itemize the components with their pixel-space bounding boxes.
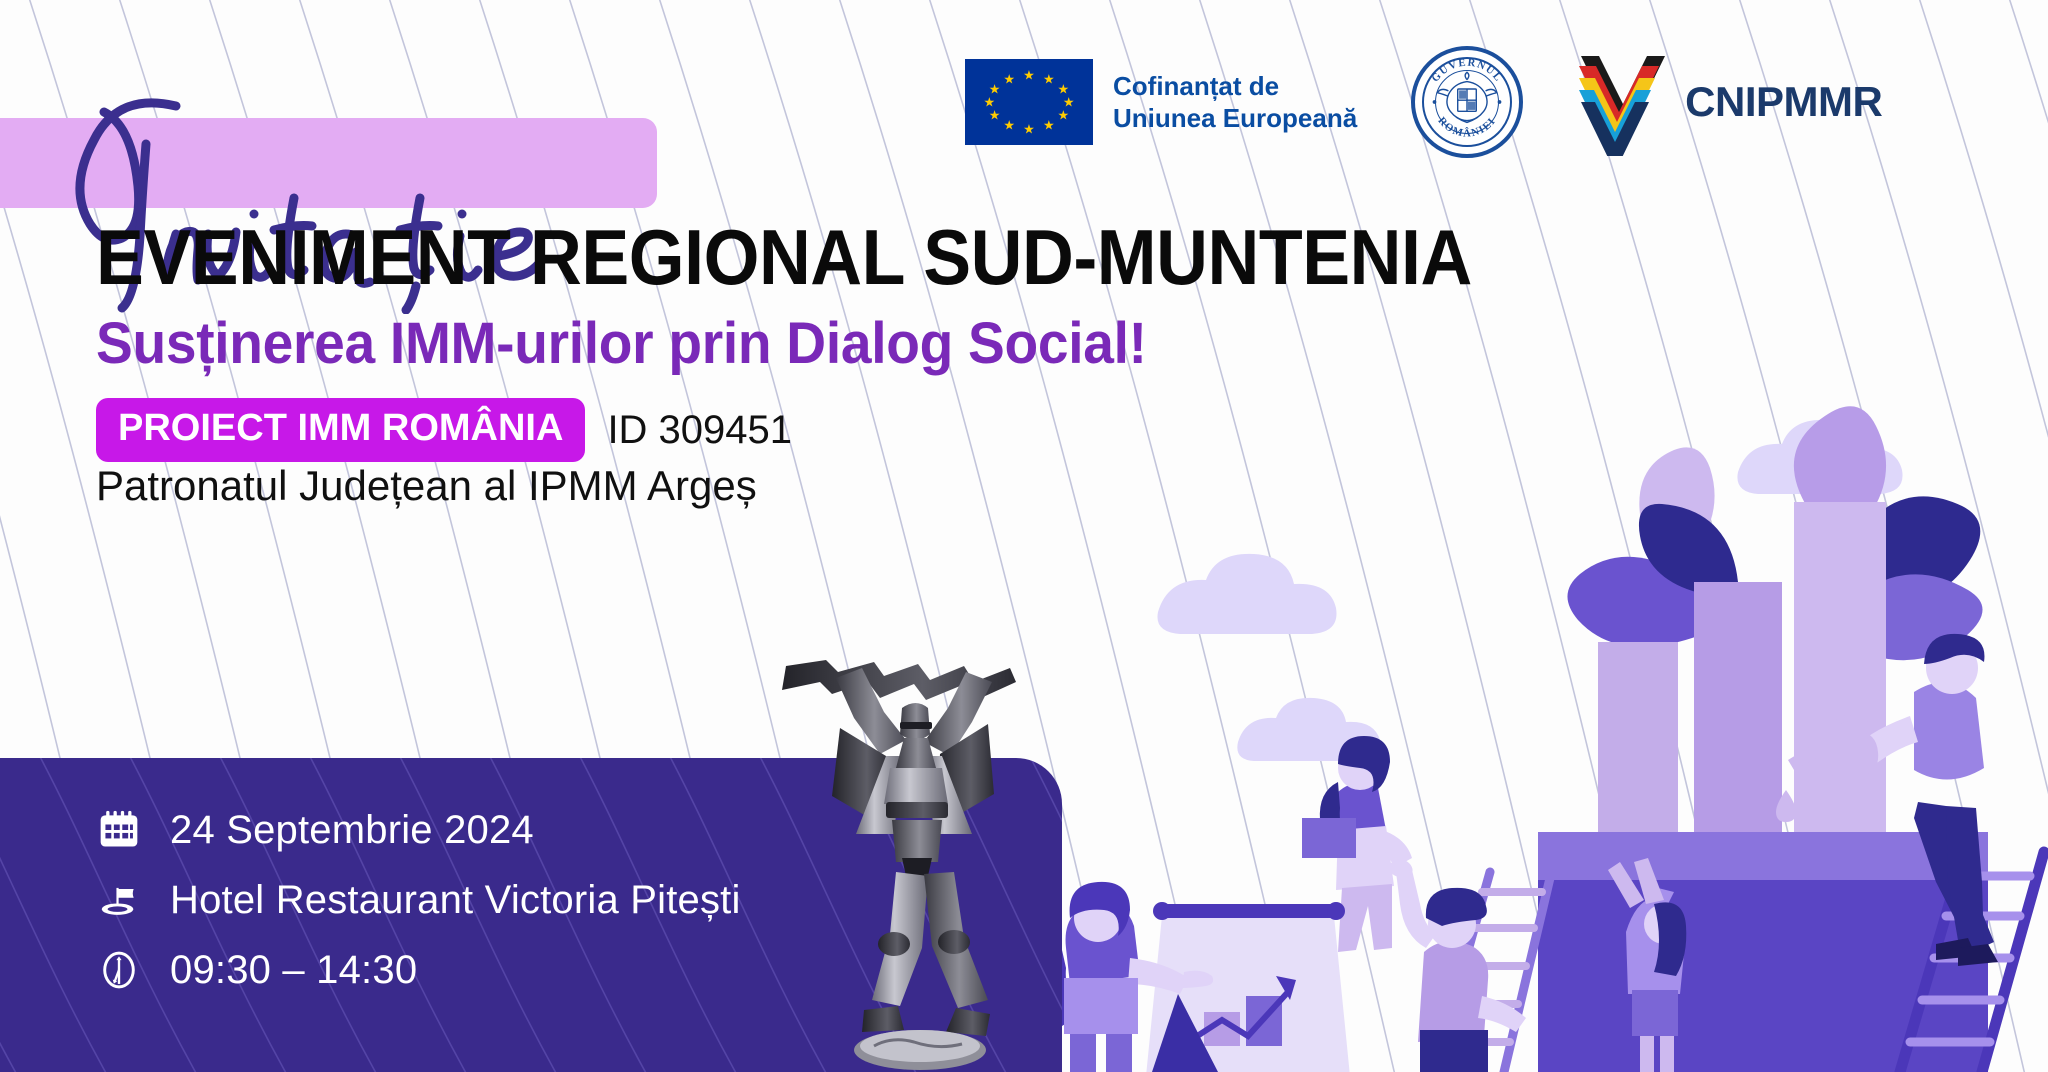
eu-logo-line2: Uniunea Europeană [1113, 102, 1357, 135]
government-of-romania-seal: GUVERNUL ROMÂNIEI [1411, 46, 1523, 158]
logo-row: ★★★★★★★★★★★★ Cofinanțat de Uniunea Europ… [965, 46, 1882, 158]
clock-icon [96, 947, 142, 993]
eu-star-icon: ★ [1023, 122, 1035, 135]
location-flag-icon [96, 877, 142, 923]
calendar-icon [96, 807, 142, 853]
eu-star-icon: ★ [989, 109, 1001, 122]
detail-row-time: 09:30 – 14:30 [96, 942, 741, 998]
organizer-name: Patronatul Județean al IPMM Argeș [96, 462, 757, 510]
zburatorul-statue-photo [778, 642, 1048, 1072]
eu-star-icon: ★ [1003, 119, 1015, 132]
project-id: ID 309451 [607, 408, 792, 453]
bar-chart-bars [1598, 502, 1886, 832]
business-growth-illustration [1038, 312, 2048, 1072]
eu-star-icon: ★ [1023, 69, 1035, 82]
eu-logo-text: Cofinanțat de Uniunea Europeană [1113, 70, 1357, 135]
detail-row-location: Hotel Restaurant Victoria Pitești [96, 872, 741, 928]
detail-row-date: 24 Septembrie 2024 [96, 802, 741, 858]
eu-star-icon: ★ [989, 82, 1001, 95]
eu-star-icon: ★ [1043, 72, 1055, 85]
svg-text:ROMÂNIEI: ROMÂNIEI [1436, 115, 1499, 140]
cloud-shapes [1157, 420, 1902, 761]
cnipmmr-chevron-icon [1577, 48, 1669, 156]
event-date: 24 Septembrie 2024 [170, 808, 534, 853]
eu-star-icon: ★ [1063, 96, 1075, 109]
cnipmmr-logo: CNIPMMR [1577, 48, 1882, 156]
eu-star-icon: ★ [1058, 82, 1070, 95]
event-details-list: 24 Septembrie 2024 Hotel Restaurant Vict… [96, 802, 741, 998]
seal-artwork: GUVERNUL ROMÂNIEI [1415, 50, 1519, 154]
page-title: EVENIMENT REGIONAL SUD-MUNTENIA [96, 212, 1472, 303]
project-badge: PROIECT IMM ROMÂNIA [96, 398, 585, 462]
eu-star-icon: ★ [1058, 109, 1070, 122]
eu-star-icon: ★ [1043, 119, 1055, 132]
eu-cofunding-logo: ★★★★★★★★★★★★ Cofinanțat de Uniunea Europ… [965, 59, 1357, 145]
eu-logo-line1: Cofinanțat de [1113, 70, 1357, 103]
project-row: PROIECT IMM ROMÂNIA ID 309451 [96, 398, 792, 462]
page-subtitle: Susținerea IMM-urilor prin Dialog Social… [96, 310, 1147, 377]
platform [1538, 832, 1988, 1072]
eu-star-icon: ★ [1003, 72, 1015, 85]
svg-text:GUVERNUL: GUVERNUL [1429, 57, 1505, 85]
event-location: Hotel Restaurant Victoria Pitești [170, 878, 741, 923]
eu-star-icon: ★ [983, 96, 995, 109]
eu-flag-icon: ★★★★★★★★★★★★ [965, 59, 1093, 145]
invitation-poster: 24 Septembrie 2024 Hotel Restaurant Vict… [0, 0, 2048, 1072]
cnipmmr-label: CNIPMMR [1685, 78, 1882, 126]
event-time: 09:30 – 14:30 [170, 948, 417, 993]
